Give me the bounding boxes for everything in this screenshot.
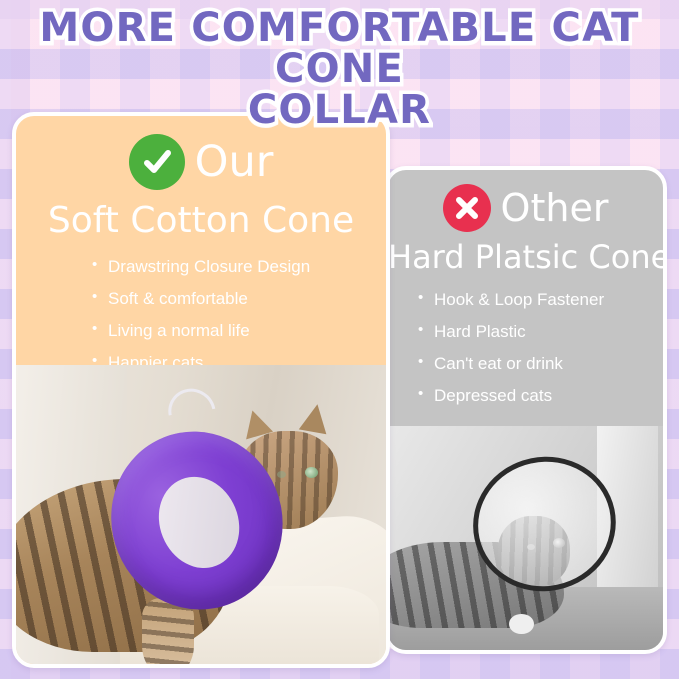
our-product-photo (16, 365, 386, 664)
list-item: Hook & Loop Fastener (418, 290, 663, 310)
list-item: Depressed cats (418, 386, 663, 406)
check-circle-icon (129, 134, 185, 190)
other-card-header: Other (388, 170, 663, 234)
our-feature-list: Drawstring Closure Design Soft & comfort… (92, 257, 386, 373)
page-title: MORE COMFORTABLE CAT CONE COLLAR (0, 8, 679, 130)
other-feature-list: Hook & Loop Fastener Hard Plastic Can't … (418, 290, 663, 406)
cat-eye (305, 467, 318, 478)
x-circle-icon (443, 184, 491, 232)
cat-ear-right (299, 402, 331, 434)
list-item: Hard Plastic (418, 322, 663, 342)
list-item: Can't eat or drink (418, 354, 663, 374)
other-label: Other (501, 186, 609, 230)
other-subtitle: Hard Platsic Cone (388, 238, 663, 276)
list-item: Soft & comfortable (92, 289, 386, 309)
our-subtitle: Soft Cotton Cone (16, 200, 386, 241)
other-product-photo (388, 426, 663, 650)
other-product-card: Other Hard Platsic Cone Hook & Loop Fast… (384, 166, 667, 654)
list-item: Drawstring Closure Design (92, 257, 386, 277)
our-label: Our (195, 137, 274, 187)
our-photo-scene (16, 365, 386, 664)
list-item: Living a normal life (92, 321, 386, 341)
other-photo-scene (388, 426, 663, 650)
title-line-2: COLLAR (0, 90, 679, 131)
title-line-1: MORE COMFORTABLE CAT CONE (0, 8, 679, 90)
our-product-card: Our Soft Cotton Cone Drawstring Closure … (12, 112, 390, 668)
cat-paw (509, 614, 534, 634)
